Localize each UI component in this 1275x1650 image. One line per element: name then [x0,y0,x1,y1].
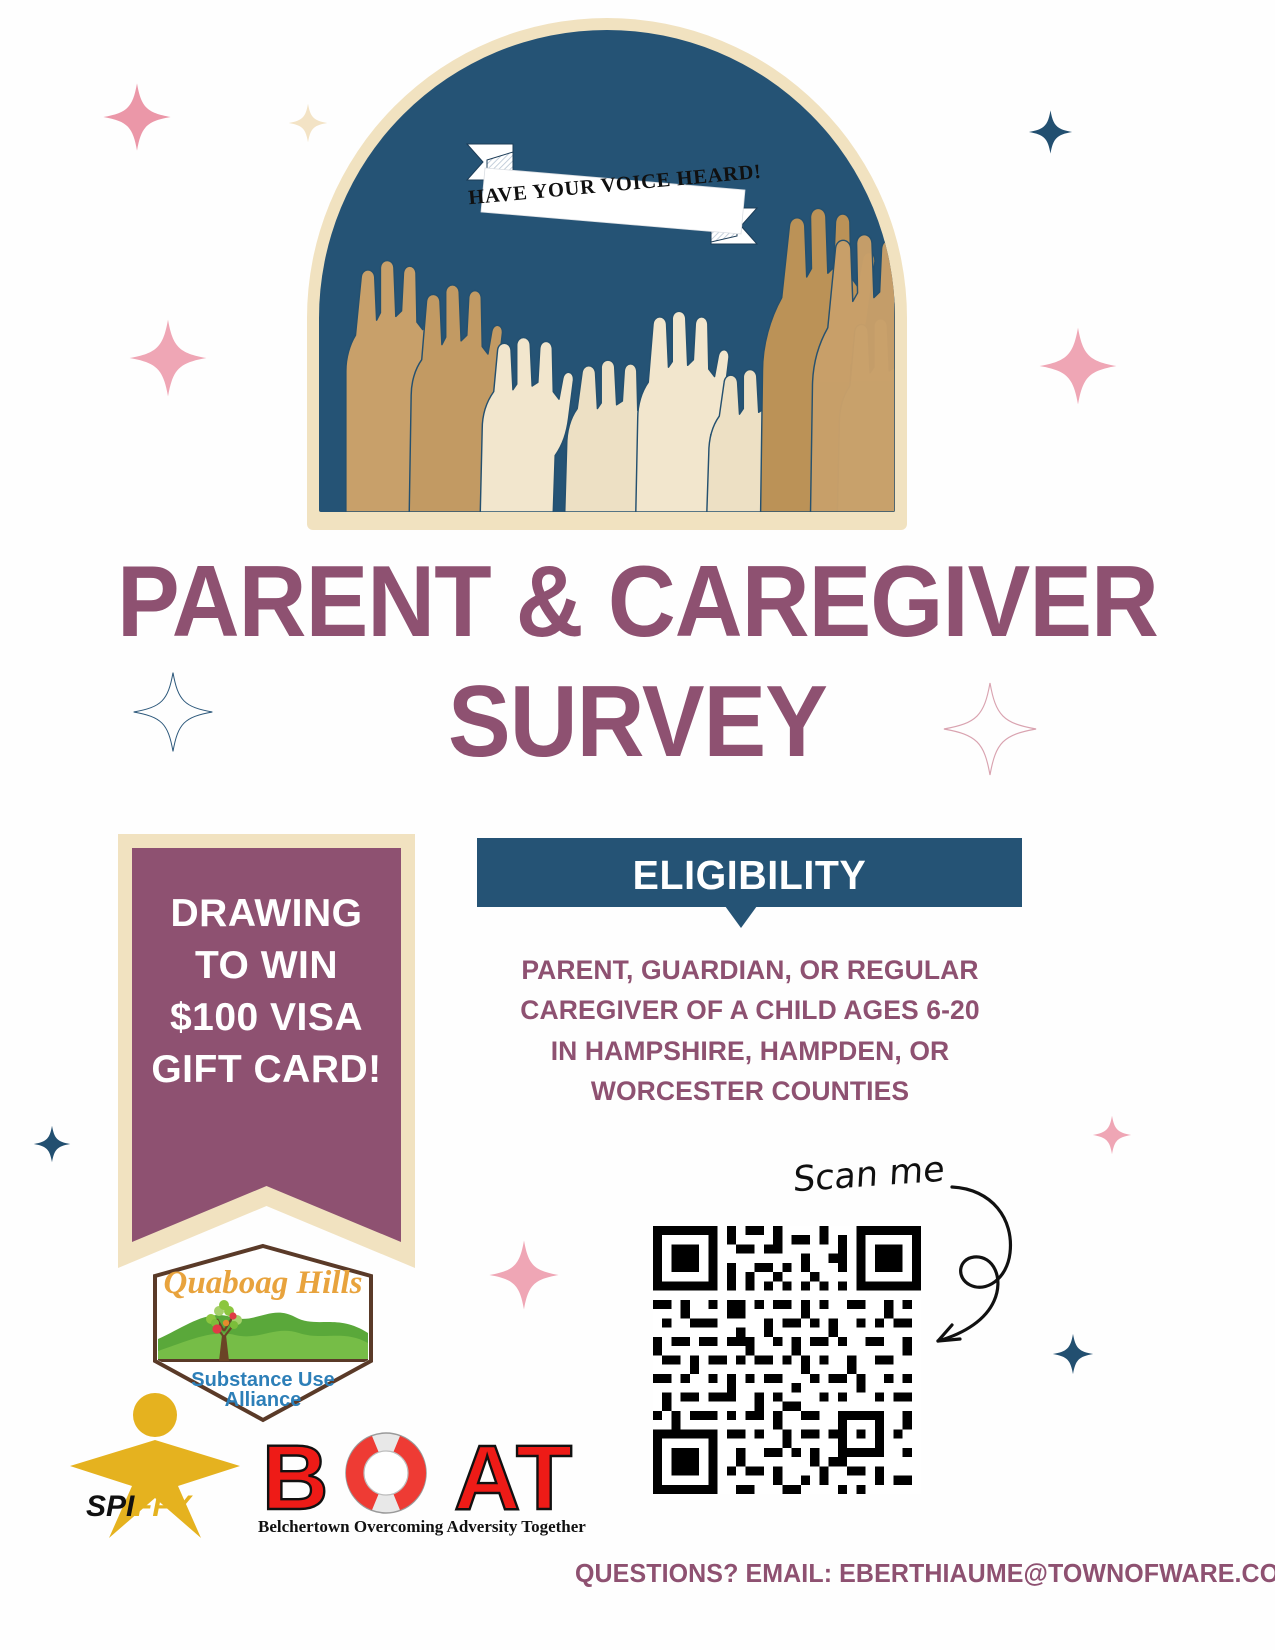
prize-line-4: GIFT CARD! [118,1044,415,1096]
eligibility-heading: ELIGIBILITY [488,852,1011,899]
sparkle-pink-top-left [102,78,172,156]
eligibility-pointer-triangle [725,906,757,928]
life-ring-icon [346,1433,426,1513]
boat-tagline: Belchertown Overcoming Adversity Togethe… [258,1517,578,1537]
eligibility-criteria-text: PARENT, GUARDIAN, OR REGULAR CAREGIVER O… [455,950,1045,1111]
prize-banner-text: DRAWING TO WIN $100 VISA GIFT CARD! [118,888,415,1095]
sparkle-navy-top-right [1028,106,1073,158]
flyer-poster: HAVE YOUR VOICE HEARD! PARENT & CAREGIVE… [0,0,1275,1650]
prize-drawing-banner: DRAWING TO WIN $100 VISA GIFT CARD! [118,834,415,1268]
survey-qr-code[interactable] [653,1226,921,1494]
boat-letter-b: B [262,1427,328,1517]
page-title-line2: SURVEY [45,672,1231,773]
prize-line-3: $100 VISA [118,992,415,1044]
prize-line-2: TO WIN [118,940,415,992]
boat-letter-a: A [454,1427,520,1517]
sparkle-navy-left-lower [33,1122,71,1166]
eligibility-line-2: CAREGIVER OF A CHILD AGES 6-20 [455,990,1045,1030]
spiffy-text-part1: SPI [86,1490,135,1523]
spiffy-text-part2: FFY [134,1490,194,1523]
eligibility-line-3: IN HAMPSHIRE, HAMPDEN, OR [455,1031,1045,1071]
scan-me-arrow-icon [890,1175,1020,1375]
prize-line-1: DRAWING [118,888,415,940]
eligibility-line-1: PARENT, GUARDIAN, OR REGULAR [455,950,1045,990]
sparkle-pink-center-lower [488,1233,560,1317]
sparkle-pink-right-lower [1092,1112,1132,1158]
eligibility-line-4: WORCESTER COUNTIES [455,1071,1045,1111]
spiffy-logo: SPI FFY [68,1388,243,1540]
page-title-line1: PARENT & CAREGIVER [45,552,1231,653]
questions-email-text: QUESTIONS? EMAIL: EBERTHIAUME@TOWNOFWARE… [575,1560,1222,1589]
voice-heard-ribbon: HAVE YOUR VOICE HEARD! [447,130,777,255]
sparkle-pink-mid-right [1038,320,1118,412]
sparkle-navy-right-bottom [1052,1330,1094,1378]
hero-arch-illustration: HAVE YOUR VOICE HEARD! [307,18,907,530]
boat-letters: B A T [258,1425,578,1517]
eligibility-header-box: ELIGIBILITY [477,838,1022,907]
boat-logo: B A T Belchertown Overcoming Adversity T… [258,1425,578,1555]
quaboag-name-text: Quaboag Hills [164,1265,363,1301]
sparkle-pink-mid-left [128,312,208,404]
boat-letter-t: T [516,1427,572,1517]
